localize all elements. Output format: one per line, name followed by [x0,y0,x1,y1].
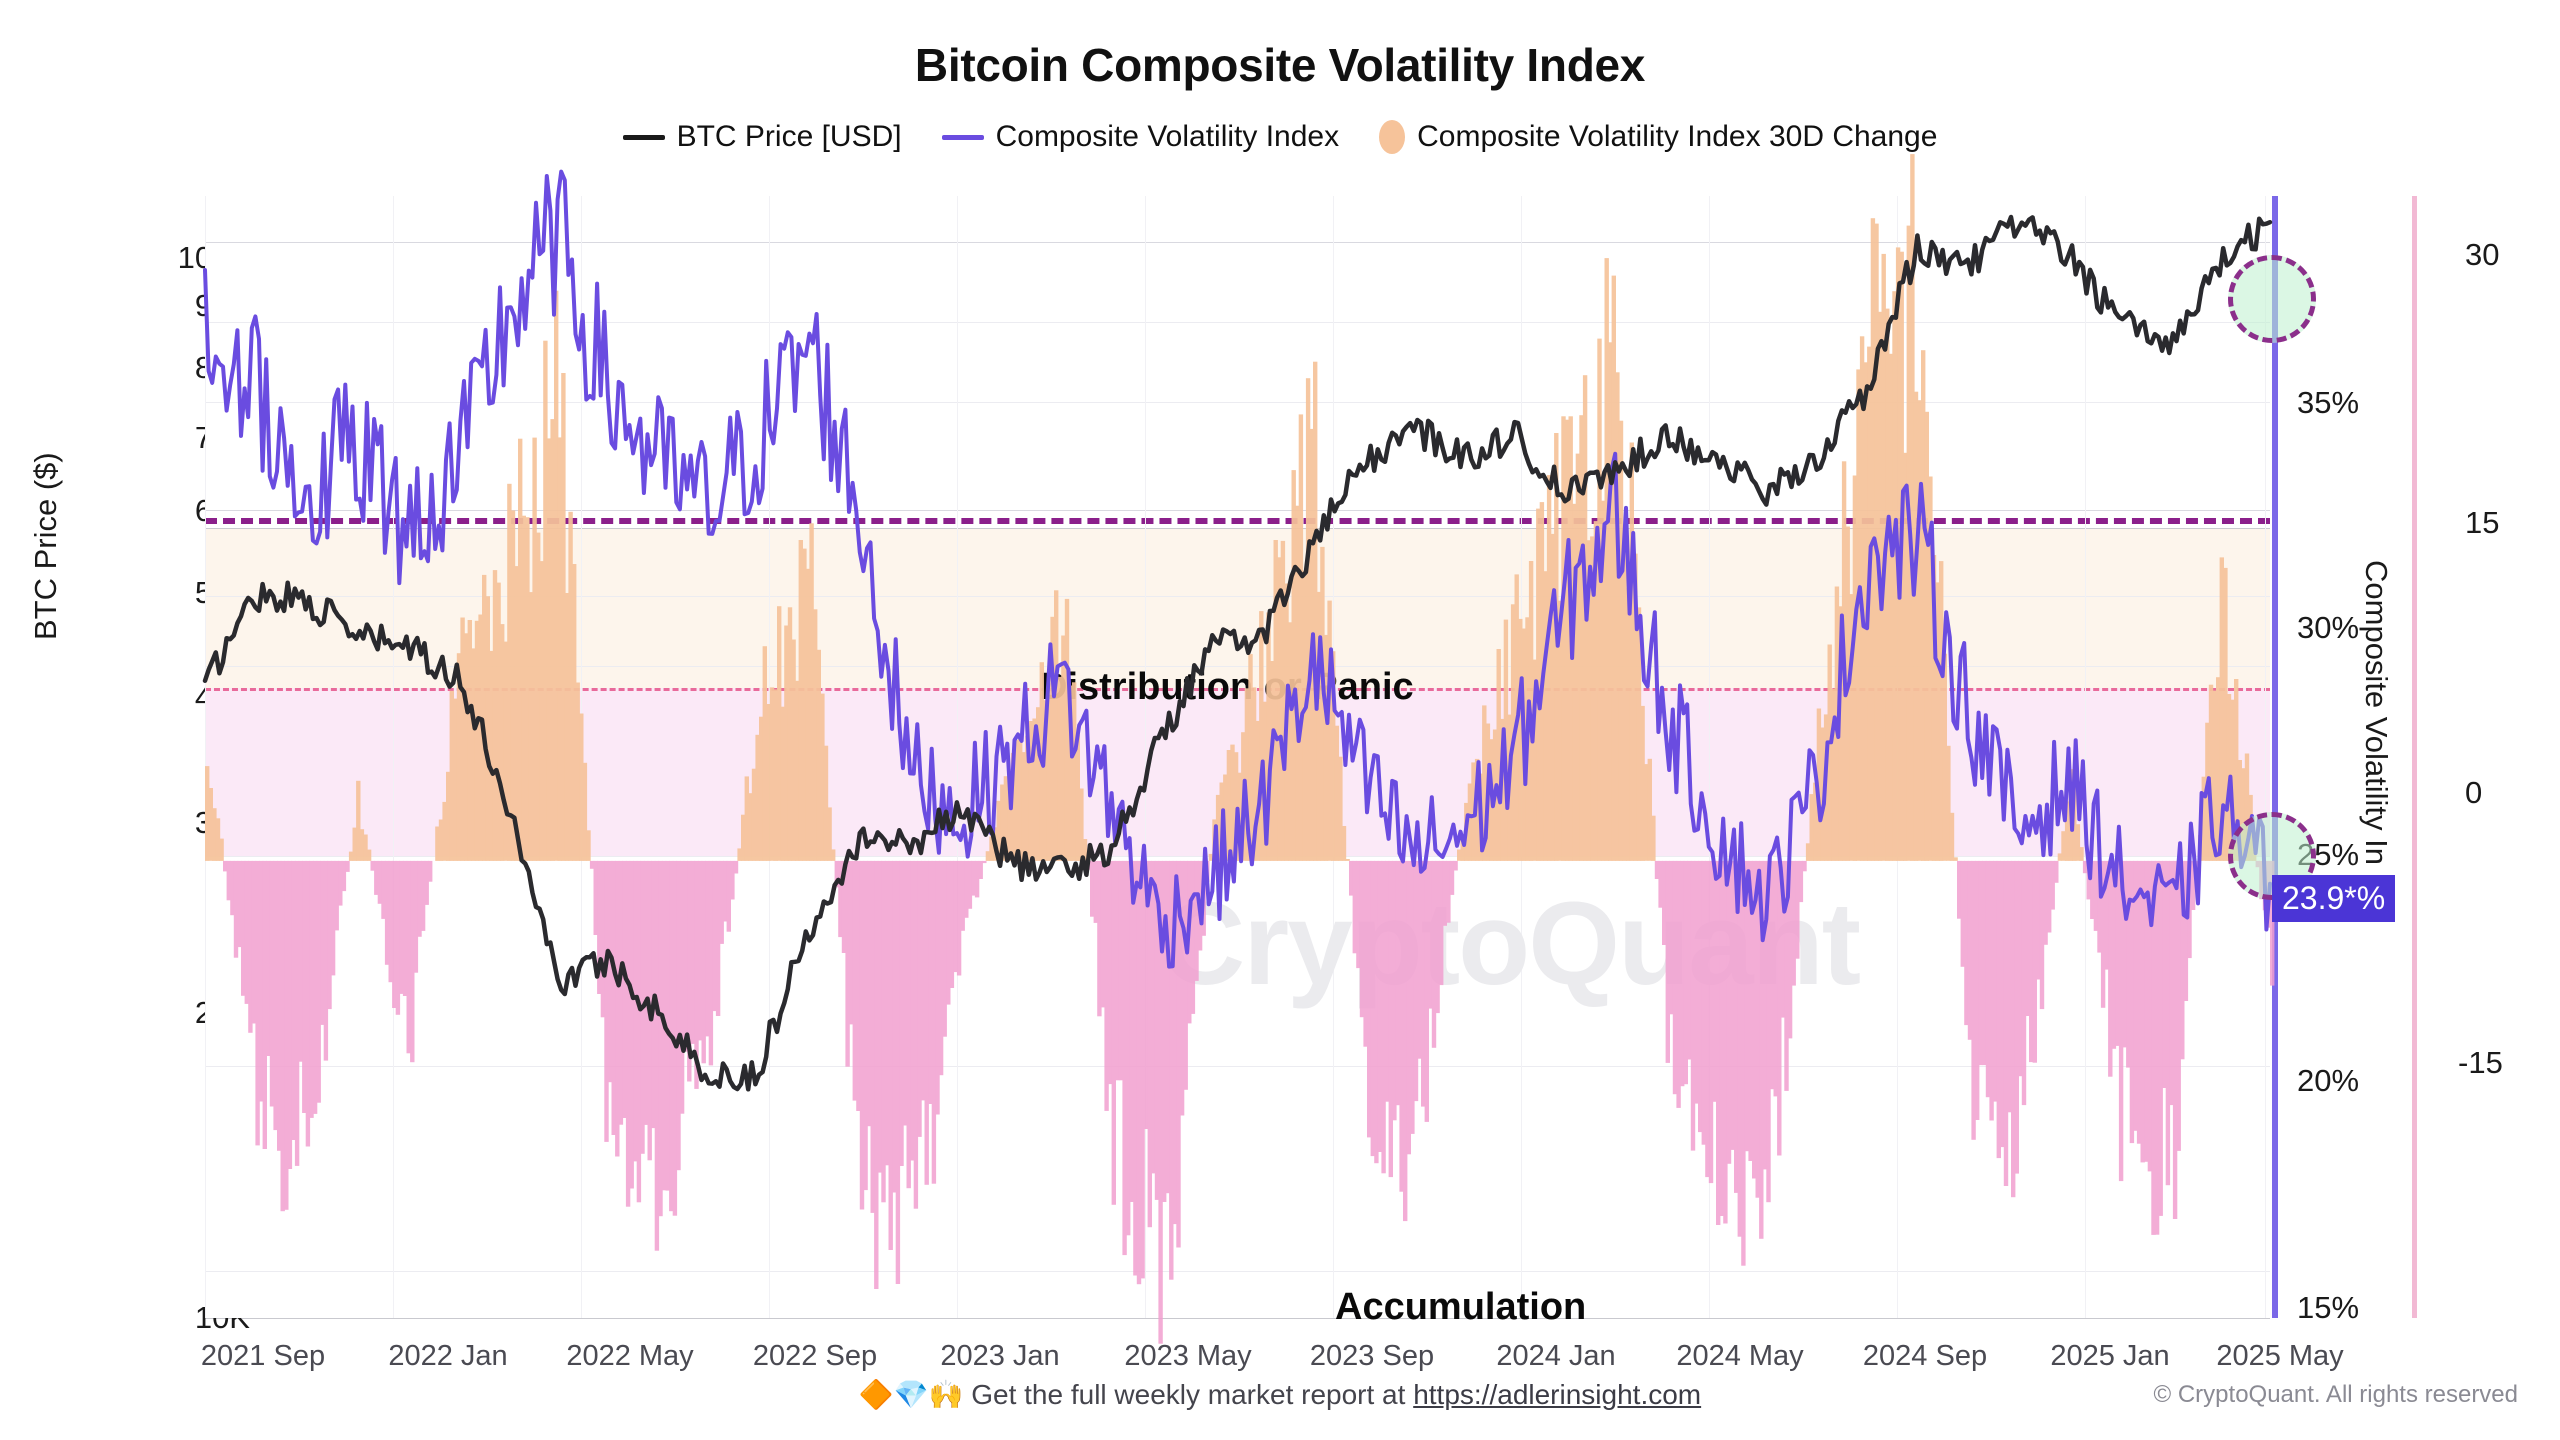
y-tick-volatility: 30% [2297,610,2359,646]
line-series-group [205,196,2270,1318]
copyright-notice: © CryptoQuant. All rights reserved [2154,1381,2519,1409]
x-tick-label: 2025 May [2216,1340,2343,1373]
legend-label: BTC Price [USD] [677,120,902,154]
legend-label: Composite Volatility Index [996,120,1340,154]
emoji-icons: 🔶💎🙌 [859,1379,964,1410]
page-title: Bitcoin Composite Volatility Index [0,38,2560,92]
x-tick-label: 2022 May [566,1340,693,1373]
y-tick-change: 15 [2465,505,2499,541]
y-axis-volatility-label: Composite Volatility In [2358,560,2394,865]
y-tick-change: 0 [2465,775,2482,811]
x-tick-label: 2022 Jan [388,1340,507,1373]
x-tick-label: 2021 Sep [201,1340,325,1373]
y-axis-left-label: BTC Price ($) [28,452,64,640]
x-tick-label: 2023 Sep [1310,1340,1434,1373]
y-axis-change-line [2412,196,2417,1318]
line-swatch-icon [623,135,665,140]
legend-label: Composite Volatility Index 30D Change [1417,120,1937,154]
report-link[interactable]: https://adlerinsight.com [1413,1379,1701,1410]
legend-item-btc-price[interactable]: BTC Price [USD] [623,120,902,154]
y-tick-volatility: 15% [2297,1290,2359,1326]
x-tick-label: 2023 May [1124,1340,1251,1373]
x-tick-label: 2022 Sep [753,1340,877,1373]
legend-item-30d-change[interactable]: Composite Volatility Index 30D Change [1379,120,1937,154]
x-tick-label: 2024 Jan [1496,1340,1615,1373]
y-tick-change: 30 [2465,237,2499,273]
line-swatch-icon [942,135,984,140]
y-tick-volatility: 35% [2297,385,2359,421]
x-tick-label: 2024 May [1676,1340,1803,1373]
x-tick-label: 2024 Sep [1863,1340,1987,1373]
x-tick-label: 2023 Jan [940,1340,1059,1373]
y-tick-change: -15 [2458,1045,2503,1081]
y-axis-volatility-line [2272,196,2278,1318]
chart-plot-area[interactable]: CryptoQuant Distribution or Panic Accumu… [205,196,2270,1318]
current-value-badge: 23.9*% [2272,875,2395,922]
legend-item-volatility-index[interactable]: Composite Volatility Index [942,120,1340,154]
chart-legend: BTC Price [USD] Composite Volatility Ind… [0,120,2560,154]
footer-text: Get the full weekly market report at [971,1379,1413,1410]
y-tick-volatility: 20% [2297,1063,2359,1099]
volatility-index-line [205,172,2270,967]
x-tick-label: 2025 Jan [2050,1340,2169,1373]
dot-swatch-icon [1379,120,1405,154]
highlight-circle-price [2228,255,2316,343]
